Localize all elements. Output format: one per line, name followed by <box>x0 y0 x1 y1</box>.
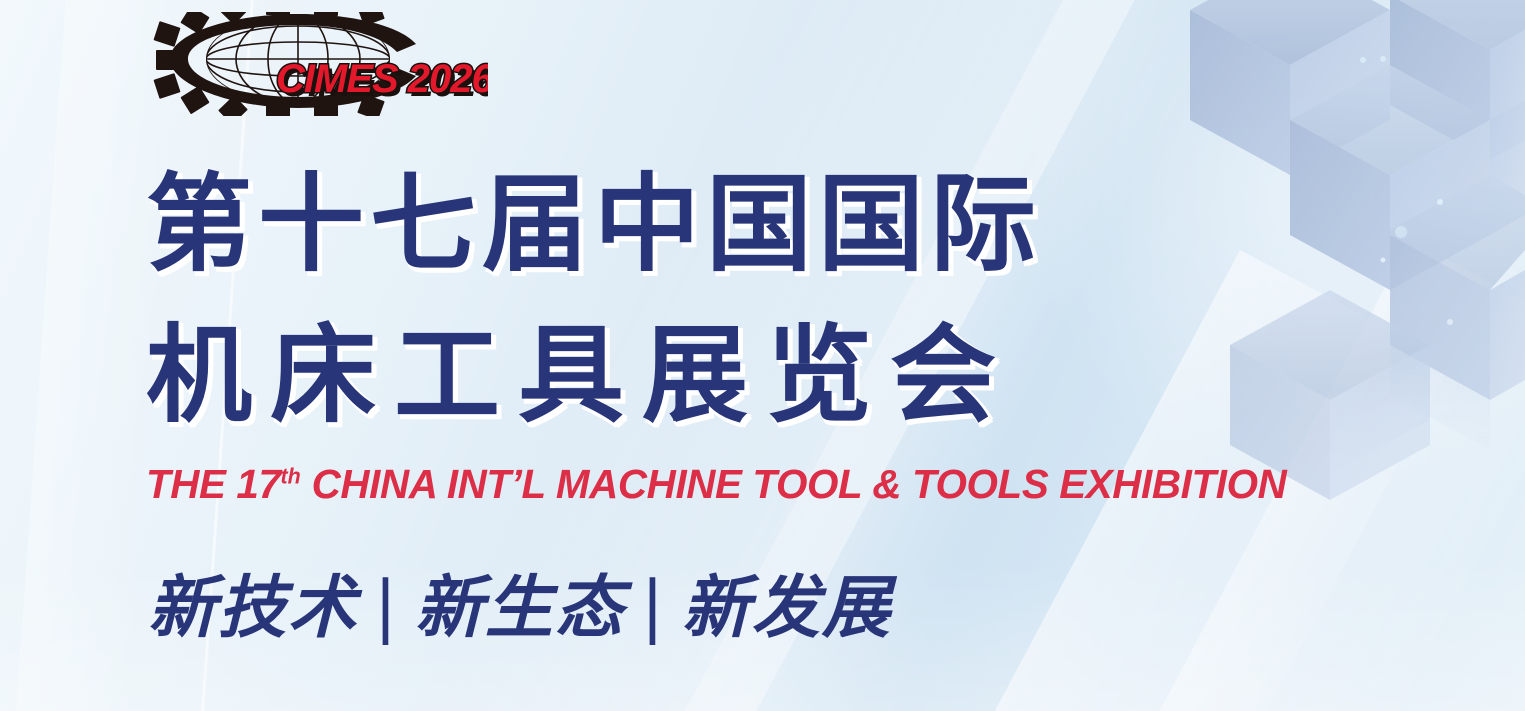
tagline-item-3: 新发展 <box>682 569 892 648</box>
sparkle-dot <box>1447 319 1453 325</box>
english-subtitle: THE 17th CHINA INT’L MACHINE TOOL & TOOL… <box>146 461 1249 508</box>
svg-text:CIMES 2026: CIMES 2026 <box>276 57 488 101</box>
sparkle-dot <box>1380 56 1386 62</box>
tagline-separator-1: | <box>358 573 415 641</box>
subtitle-rest: CHINA INT’L MACHINE TOOL & TOOLS EXHIBIT… <box>301 461 1287 507</box>
cimes-wordmark: CIMES 2026 CIMES 2026 <box>276 57 488 105</box>
title-line-1: 第十七届中国国际 <box>146 150 1266 301</box>
sparkle-dot <box>1360 57 1366 63</box>
tagline-item-2: 新生态 <box>415 569 625 648</box>
subtitle-ordinal: th <box>281 463 301 488</box>
subtitle-prefix: THE 17 <box>146 461 281 507</box>
sparkle-dot <box>1395 226 1407 238</box>
title-line-2: 机床工具展览会 <box>146 301 1266 452</box>
headline-block: 第十七届中国国际 机床工具展览会 THE 17th CHINA INT’L MA… <box>146 150 1266 508</box>
cimes-logo: CIMES 2026 CIMES 2026 <box>148 12 488 116</box>
sparkle-dot <box>1437 199 1443 205</box>
tagline-item-1: 新技术 <box>148 569 358 648</box>
cimes-2026-banner: CIMES 2026 CIMES 2026 第十七届中国国际 机床工具展览会 T… <box>0 0 1525 711</box>
tagline: 新技术|新生态|新发展 <box>148 575 892 643</box>
sparkle-dot <box>1381 258 1386 263</box>
tagline-separator-2: | <box>625 573 682 641</box>
